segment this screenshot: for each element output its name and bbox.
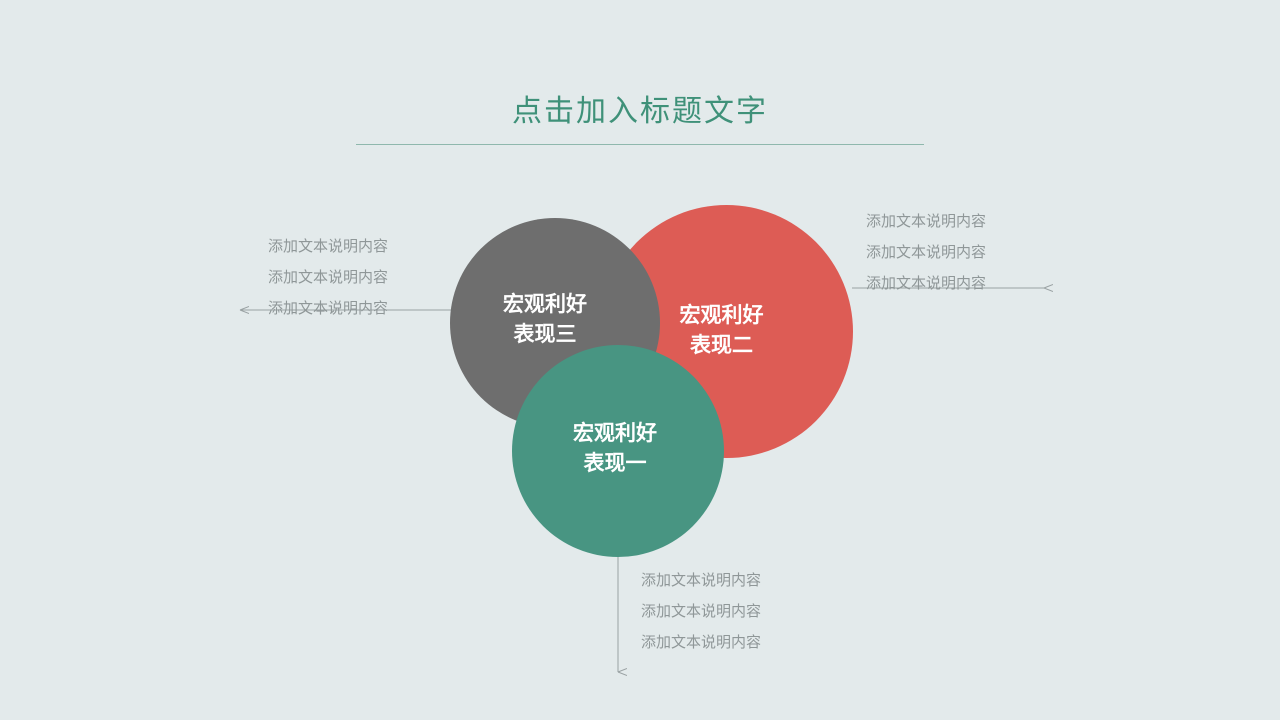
annotation-bottom: 添加文本说明内容 添加文本说明内容 添加文本说明内容 (641, 565, 821, 658)
circle-gray-label-line2: 表现三 (503, 320, 587, 350)
annotation-left-line-2: 添加文本说明内容 (268, 262, 436, 293)
page-title: 点击加入标题文字 (356, 92, 924, 132)
circle-green-label: 宏观利好 表现一 (573, 419, 657, 479)
circle-red-label: 宏观利好 表现二 (680, 301, 764, 361)
circle-gray-label: 宏观利好 表现三 (503, 290, 587, 350)
annotation-left-line-3: 添加文本说明内容 (268, 293, 436, 324)
annotation-left: 添加文本说明内容 添加文本说明内容 添加文本说明内容 (268, 231, 436, 324)
circle-green-label-line1: 宏观利好 (573, 419, 657, 449)
circle-red-label-line1: 宏观利好 (680, 301, 764, 331)
annotation-left-line-1: 添加文本说明内容 (268, 231, 436, 262)
circle-macro-benefit-1[interactable]: 宏观利好 表现一 (512, 345, 724, 557)
annotation-right-line-2: 添加文本说明内容 (866, 237, 1034, 268)
circle-green-label-line2: 表现一 (573, 449, 657, 479)
annotation-bottom-line-1: 添加文本说明内容 (641, 565, 821, 596)
annotation-right-line-3: 添加文本说明内容 (866, 268, 1034, 299)
circle-red-label-line2: 表现二 (680, 331, 764, 361)
annotation-right: 添加文本说明内容 添加文本说明内容 添加文本说明内容 (866, 206, 1034, 299)
title-block: 点击加入标题文字 (356, 92, 924, 145)
slide-canvas: 点击加入标题文字 宏观利好 表现二 宏观利好 (0, 0, 1280, 720)
circle-gray-label-line1: 宏观利好 (503, 290, 587, 320)
title-divider (356, 144, 924, 145)
annotation-bottom-line-2: 添加文本说明内容 (641, 596, 821, 627)
annotation-right-line-1: 添加文本说明内容 (866, 206, 1034, 237)
annotation-bottom-line-3: 添加文本说明内容 (641, 627, 821, 658)
